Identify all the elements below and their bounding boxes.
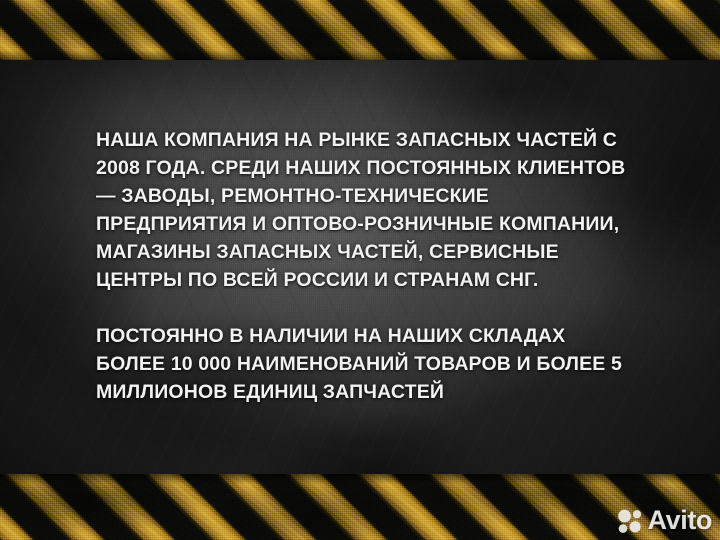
- hazard-stripe-band-bottom: [0, 474, 720, 540]
- avito-wordmark: Avito: [648, 507, 713, 534]
- description-paragraph-1: Наша компания на рынке запасных частей с…: [96, 126, 636, 294]
- avito-dots-icon: [617, 508, 643, 534]
- hazard-edge-shadow: [0, 474, 720, 484]
- listing-image-canvas: Наша компания на рынке запасных частей с…: [0, 0, 720, 540]
- description-paragraph-2: Постоянно в наличии на наших складах бол…: [96, 322, 636, 406]
- hazard-stripe-band-top: [0, 0, 720, 60]
- hazard-edge-shadow: [0, 50, 720, 60]
- listing-description: Наша компания на рынке запасных частей с…: [96, 126, 636, 406]
- avito-watermark: Avito: [617, 507, 713, 534]
